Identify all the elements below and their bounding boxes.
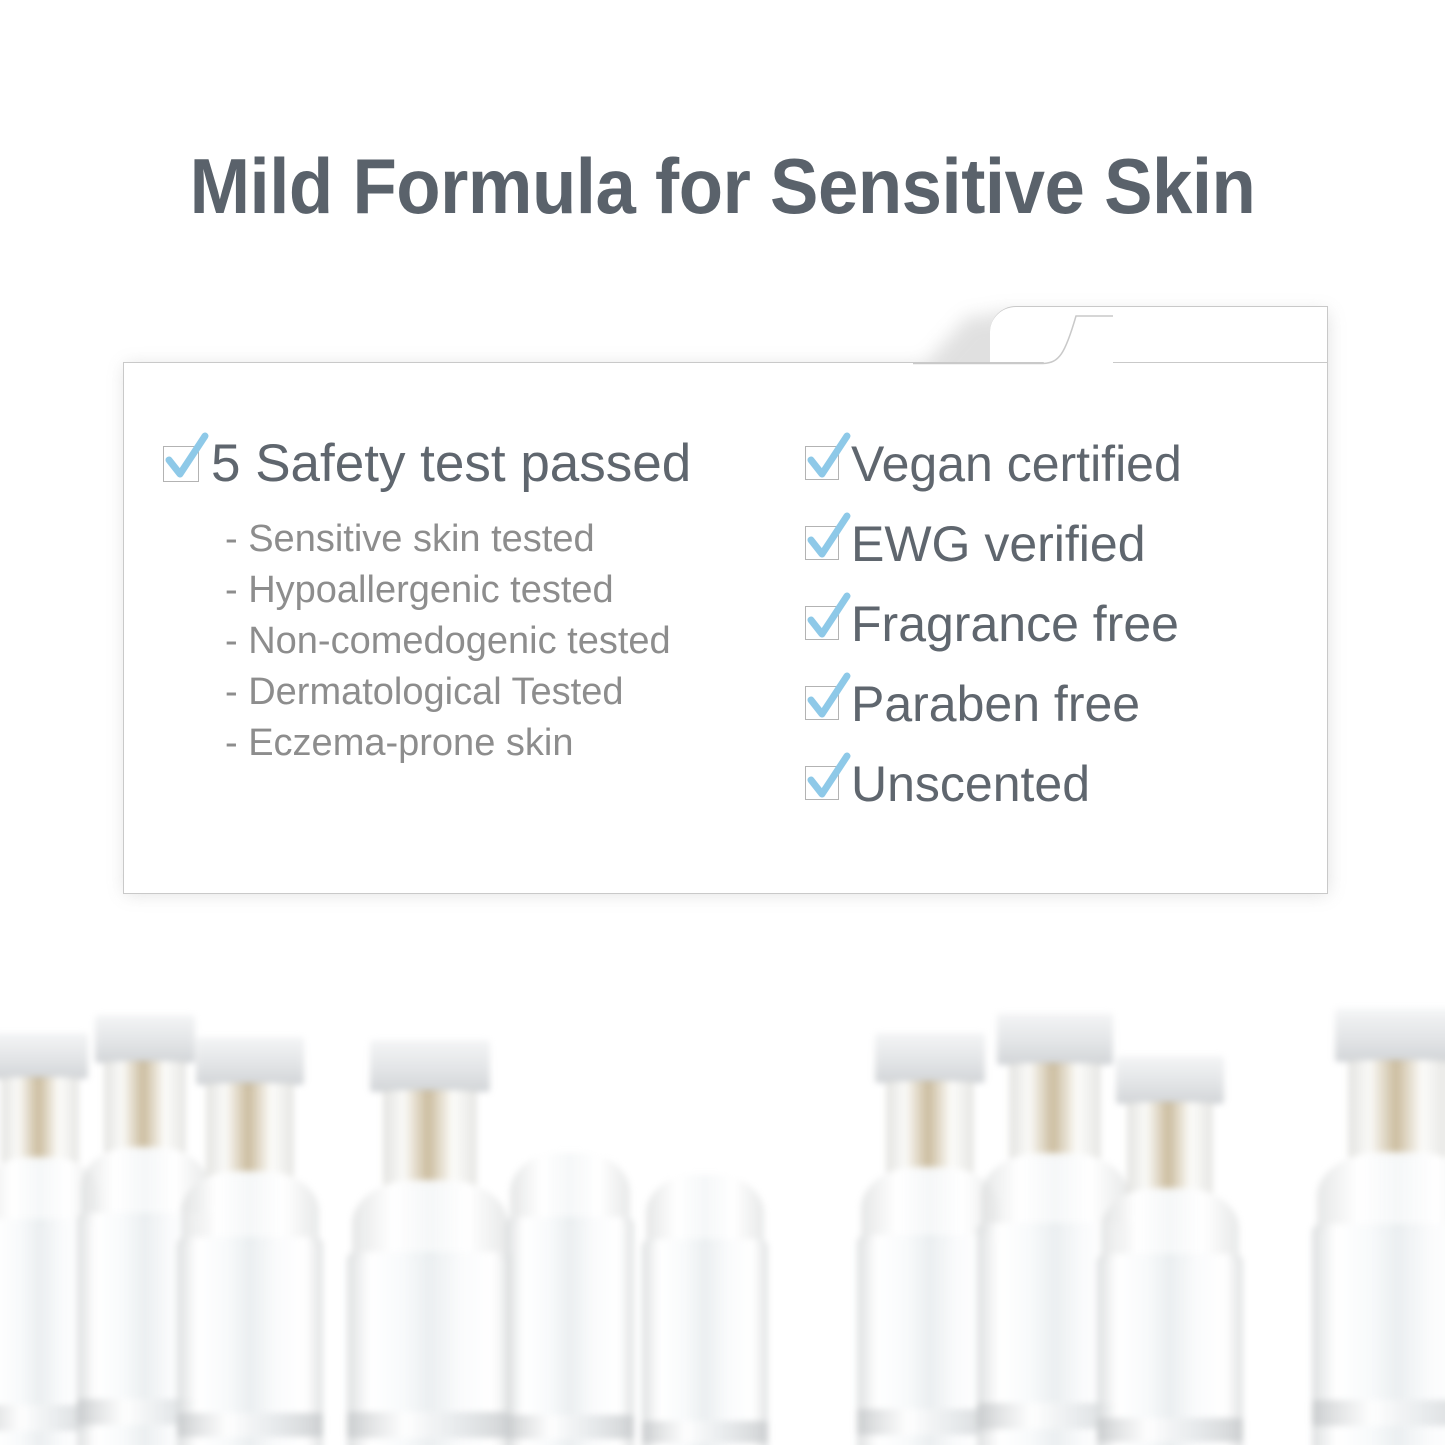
feature-card: 5 Safety test passed - Sensitive skin te… xyxy=(123,306,1328,896)
feature-row-vegan-certified: Vegan certified xyxy=(805,434,1305,494)
list-item: - Dermatological Tested xyxy=(225,667,803,718)
checkbox-checked-icon xyxy=(805,526,839,560)
page-title: Mild Formula for Sensitive Skin xyxy=(51,140,1395,232)
list-item: - Sensitive skin tested xyxy=(225,514,803,565)
vial-group xyxy=(0,950,1445,1445)
feature-row-paraben-free: Paraben free xyxy=(805,674,1305,734)
feature-row-fragrance-free: Fragrance free xyxy=(805,594,1305,654)
checkbox-checked-icon xyxy=(163,446,199,482)
product-photo-vials xyxy=(0,950,1445,1445)
vial xyxy=(1095,1020,1245,1445)
vial xyxy=(505,1085,635,1445)
feature-row-ewg-verified: EWG verified xyxy=(805,514,1305,574)
feature-label: EWG verified xyxy=(851,514,1146,574)
right-column: Vegan certified EWG verified xyxy=(805,434,1305,834)
feature-row-unscented: Unscented xyxy=(805,754,1305,814)
checkbox-checked-icon xyxy=(805,446,839,480)
safety-heading-row: 5 Safety test passed xyxy=(163,432,803,496)
checkbox-checked-icon xyxy=(805,606,839,640)
checkbox-checked-icon xyxy=(805,686,839,720)
card-columns: 5 Safety test passed - Sensitive skin te… xyxy=(123,362,1328,894)
feature-label: Fragrance free xyxy=(851,594,1179,654)
infographic-page: Mild Formula for Sensitive Skin xyxy=(0,0,1445,1445)
safety-sub-list: - Sensitive skin tested - Hypoallergenic… xyxy=(225,514,803,769)
safety-heading-label: 5 Safety test passed xyxy=(211,432,691,496)
vial xyxy=(175,1005,325,1445)
list-item: - Non-comedogenic tested xyxy=(225,616,803,667)
vial xyxy=(345,1010,515,1445)
vial xyxy=(1310,990,1445,1445)
list-item: - Hypoallergenic tested xyxy=(225,565,803,616)
feature-label: Unscented xyxy=(851,754,1090,814)
left-column: 5 Safety test passed - Sensitive skin te… xyxy=(163,432,803,769)
checkbox-checked-icon xyxy=(805,766,839,800)
feature-label: Vegan certified xyxy=(851,434,1182,494)
feature-label: Paraben free xyxy=(851,674,1140,734)
vial xyxy=(640,1115,770,1445)
list-item: - Eczema-prone skin xyxy=(225,718,803,769)
